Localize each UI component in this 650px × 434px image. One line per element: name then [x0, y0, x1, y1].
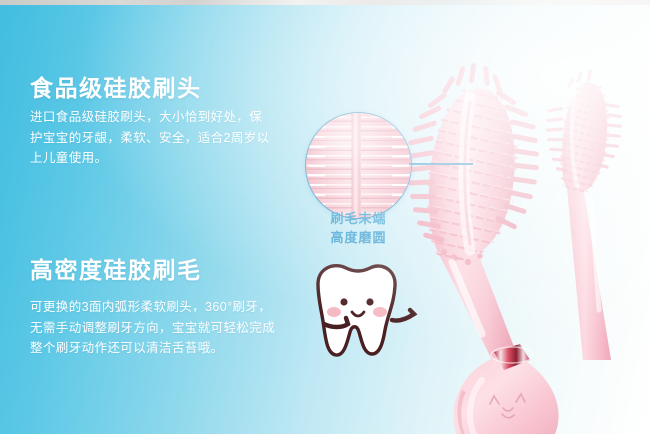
- magnified-brush-head-circle: [305, 112, 412, 219]
- feature-2-body: 可更换的3面内弧形柔软刷头，360°刷牙，无需手动调整刷牙方向，宝宝就可轻松完成…: [30, 297, 280, 358]
- callout-label-line2: 高度磨圆: [307, 229, 410, 248]
- mascot-arm-right: [392, 310, 414, 321]
- product-poster: 刷毛末端 高度磨圆 食品级硅胶刷头 进口食品级硅胶刷头，大小恰到好处，保护宝宝的…: [0, 0, 650, 434]
- toothbrush-front-illustration: [398, 52, 578, 434]
- magnifier-gloss: [306, 113, 411, 218]
- feature-block-2: 高密度硅胶刷毛 可更换的3面内弧形柔软刷头，360°刷牙，无需手动调整刷牙方向，…: [30, 258, 280, 358]
- callout-label: 刷毛末端 高度磨圆: [307, 210, 410, 248]
- feature-block-1: 食品级硅胶刷头 进口食品级硅胶刷头，大小恰到好处，保护宝宝的牙龈，柔软、安全，适…: [30, 76, 275, 168]
- feature-2-heading: 高密度硅胶刷毛: [30, 258, 280, 283]
- top-edge-strip: [0, 0, 650, 5]
- feature-1-body: 进口食品级硅胶刷头，大小恰到好处，保护宝宝的牙龈，柔软、安全，适合2周岁以上儿童…: [30, 107, 275, 168]
- callout-leader-line: [409, 163, 473, 165]
- mascot-eye-left: [340, 298, 347, 305]
- mascot-blush-left: [327, 307, 341, 317]
- cartoon-tooth-mascot: [296, 258, 426, 370]
- mascot-eye-right: [366, 298, 373, 305]
- feature-1-heading: 食品级硅胶刷头: [30, 76, 275, 101]
- callout-label-line1: 刷毛末端: [307, 210, 410, 229]
- mascot-blush-right: [373, 307, 387, 317]
